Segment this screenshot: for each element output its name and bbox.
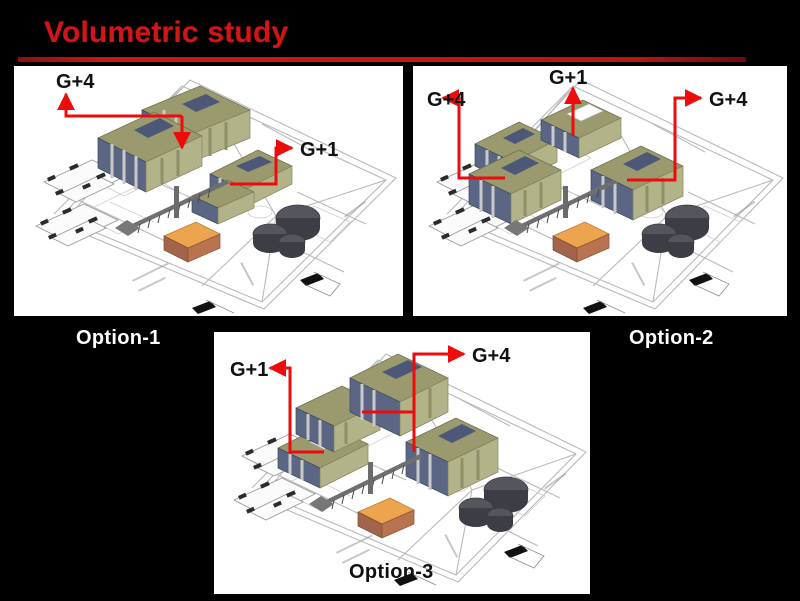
option-1-site-plan: G+4 G+1 (14, 66, 403, 316)
option-1-caption: Option-1 (76, 327, 161, 350)
annotation-label-g4-right: G+4 (709, 89, 748, 111)
annotation-label-g1-center: G+1 (549, 67, 587, 89)
option-3-caption: Option-3 (349, 561, 434, 584)
option-2-caption: Option-2 (629, 327, 714, 350)
annotation-label-g4-left: G+4 (427, 89, 466, 111)
annotation-label-g1-left: G+1 (230, 359, 268, 381)
page-title: Volumetric study (44, 16, 288, 50)
annotation-label-g4-right: G+4 (472, 345, 511, 367)
option-3-image-panel[interactable]: G+1 G+4 (214, 332, 590, 594)
annotation-label-g4-left: G+4 (56, 71, 95, 93)
option-3-site-plan: G+1 G+4 (214, 332, 590, 594)
slide-root: Volumetric study (0, 0, 800, 601)
option-2-image-panel[interactable]: G+4 G+1 G+4 (413, 66, 787, 316)
option-1-image-panel[interactable]: G+4 G+1 (14, 66, 403, 316)
title-divider (18, 57, 746, 62)
annotation-label-g1-right: G+1 (300, 139, 338, 161)
option-2-site-plan: G+4 G+1 G+4 (413, 66, 787, 316)
